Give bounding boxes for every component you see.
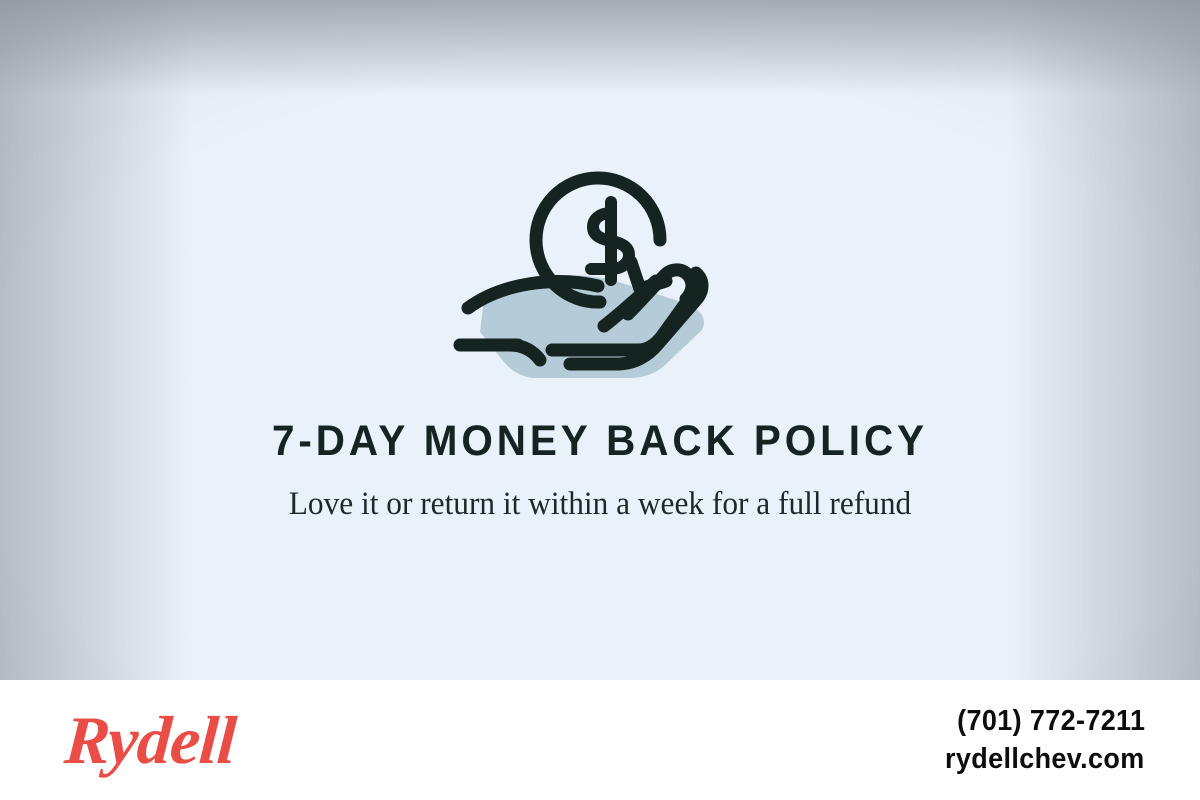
- hand-holding-money-return-icon: [450, 150, 750, 395]
- hero-panel: 7-DAY MONEY BACK POLICY Love it or retur…: [0, 0, 1200, 680]
- hero-content: 7-DAY MONEY BACK POLICY Love it or retur…: [0, 0, 1200, 680]
- website-url[interactable]: rydellchev.com: [945, 741, 1145, 777]
- phone-number[interactable]: (701) 772-7211: [957, 703, 1145, 739]
- page-title: 7-DAY MONEY BACK POLICY: [272, 417, 928, 466]
- promo-banner: 7-DAY MONEY BACK POLICY Love it or retur…: [0, 0, 1200, 800]
- promo-subtext: Love it or return it within a week for a…: [268, 482, 933, 527]
- rydell-logo[interactable]: Rydell: [63, 706, 238, 774]
- footer-bar: Rydell (701) 772-7211 rydellchev.com: [0, 680, 1200, 800]
- contact-info: (701) 772-7211 rydellchev.com: [930, 703, 1145, 777]
